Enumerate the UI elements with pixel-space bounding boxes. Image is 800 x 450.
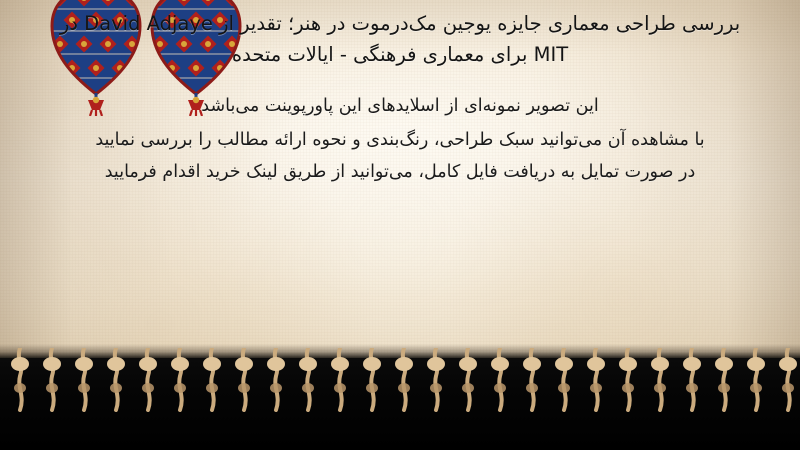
slide-text-block: بررسی طراحی معماری جایزه یوجین مک‌درموت … [0,0,800,188]
subtitle-line-2: با مشاهده آن می‌توانید سبک طراحی، رنگ‌بن… [58,124,742,156]
page-title: بررسی طراحی معماری جایزه یوجین مک‌درموت … [58,8,742,70]
slide-canvas: بررسی طراحی معماری جایزه یوجین مک‌درموت … [0,0,800,450]
subtitle-block: این تصویر نمونه‌ای از اسلایدهای این پاور… [58,90,742,188]
subtitle-line-3: در صورت تمایل به دریافت فایل کامل، می‌تو… [58,156,742,188]
subtitle-line-1: این تصویر نمونه‌ای از اسلایدهای این پاور… [58,90,742,122]
carpet-fringe-icon [0,348,800,412]
